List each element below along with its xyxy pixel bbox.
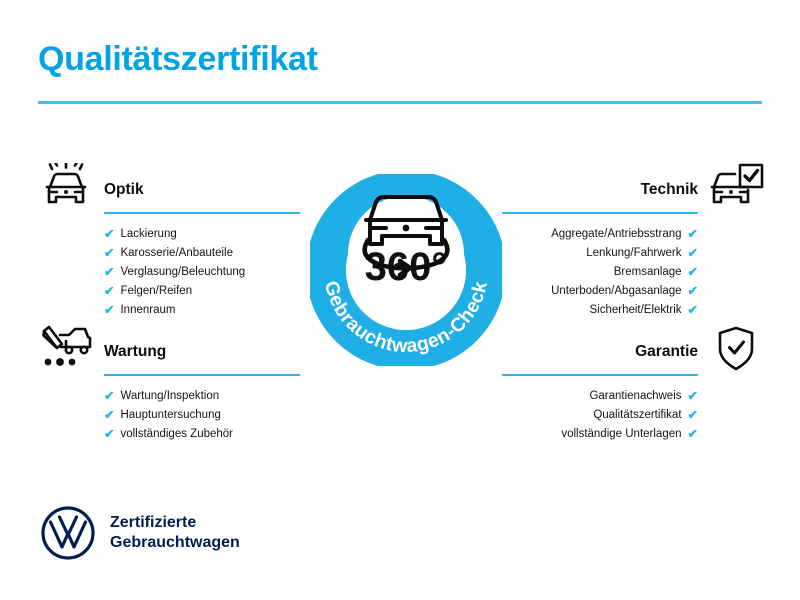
check-icon: ✔	[104, 390, 114, 403]
check-icon: ✔	[688, 428, 698, 441]
list-item-label: Verglasung/Beleuchtung	[120, 263, 245, 282]
check-icon: ✔	[688, 409, 698, 422]
check-list-technik: Aggregate/Antriebsstrang ✔ Lenkung/Fahrw…	[551, 225, 698, 320]
page-title: Qualitätszertifikat	[38, 40, 318, 79]
check-icon: ✔	[104, 409, 114, 422]
check-icon: ✔	[104, 428, 114, 441]
check-icon: ✔	[688, 266, 698, 279]
section-underline	[104, 374, 300, 376]
list-item: ✔ Lackierung	[104, 225, 245, 244]
list-item-label: Lenkung/Fahrwerk	[586, 244, 681, 263]
section-technik: Technik Aggregate/Antriebsstrang ✔ Lenku…	[502, 163, 764, 219]
list-item: Garantienachweis ✔	[561, 387, 698, 406]
check-icon: ✔	[104, 247, 114, 260]
section-title: Technik	[641, 181, 698, 199]
title-divider	[38, 101, 762, 104]
list-item: Bremsanlage ✔	[551, 263, 698, 282]
badge-360-check: Gebrauchtwagen-Check 360°	[296, 158, 516, 382]
list-item: ✔ Karosserie/Anbauteile	[104, 244, 245, 263]
list-item-label: vollständige Unterlagen	[561, 425, 681, 444]
list-item-label: Wartung/Inspektion	[120, 387, 219, 406]
list-item-label: Qualitätszertifikat	[593, 406, 681, 425]
car-pen-service-icon	[38, 325, 94, 373]
footer-line-2: Gebrauchtwagen	[110, 534, 240, 551]
section-title: Optik	[104, 181, 144, 199]
section-header: Optik	[38, 163, 300, 219]
list-item: ✔ Wartung/Inspektion	[104, 387, 233, 406]
list-item: ✔ Hauptuntersuchung	[104, 406, 233, 425]
check-icon: ✔	[104, 285, 114, 298]
list-item-label: Unterboden/Abgasanlage	[551, 282, 681, 301]
section-title: Wartung	[104, 343, 166, 361]
list-item-label: Lackierung	[120, 225, 176, 244]
section-underline	[104, 212, 300, 214]
certificate-page: Qualitätszertifikat Optik ✔ La	[0, 0, 800, 600]
footer-logo-text: Zertifizierte Gebrauchtwagen	[110, 513, 240, 553]
list-item: ✔ Innenraum	[104, 301, 245, 320]
section-underline	[502, 374, 698, 376]
check-icon: ✔	[688, 228, 698, 241]
car-shine-icon	[38, 163, 94, 211]
shield-check-icon	[708, 325, 764, 373]
list-item: ✔ Verglasung/Beleuchtung	[104, 263, 245, 282]
check-icon: ✔	[688, 304, 698, 317]
footer-line-1: Zertifizierte	[110, 514, 196, 531]
check-icon: ✔	[688, 247, 698, 260]
check-list-wartung: ✔ Wartung/Inspektion ✔ Hauptuntersuchung…	[104, 387, 233, 444]
list-item: Lenkung/Fahrwerk ✔	[551, 244, 698, 263]
section-wartung: Wartung ✔ Wartung/Inspektion ✔ Hauptunte…	[38, 325, 300, 381]
check-icon: ✔	[688, 390, 698, 403]
list-item-label: Karosserie/Anbauteile	[120, 244, 233, 263]
section-header: Wartung	[38, 325, 300, 381]
list-item: Qualitätszertifikat ✔	[561, 406, 698, 425]
list-item-label: Sicherheit/Elektrik	[589, 301, 681, 320]
list-item: vollständige Unterlagen ✔	[561, 425, 698, 444]
check-list-garantie: Garantienachweis ✔ Qualitätszertifikat ✔…	[561, 387, 698, 444]
list-item: Sicherheit/Elektrik ✔	[551, 301, 698, 320]
section-header: Technik	[502, 163, 764, 219]
list-item-label: Garantienachweis	[589, 387, 681, 406]
list-item-label: Felgen/Reifen	[120, 282, 192, 301]
list-item: ✔ vollständiges Zubehör	[104, 425, 233, 444]
check-icon: ✔	[688, 285, 698, 298]
car-checkbox-icon	[708, 163, 764, 211]
footer-logo: Zertifizierte Gebrauchtwagen	[40, 505, 240, 561]
check-icon: ✔	[104, 304, 114, 317]
list-item: ✔ Felgen/Reifen	[104, 282, 245, 301]
list-item-label: vollständiges Zubehör	[120, 425, 233, 444]
list-item-label: Innenraum	[120, 301, 175, 320]
check-list-optik: ✔ Lackierung ✔ Karosserie/Anbauteile ✔ V…	[104, 225, 245, 320]
section-garantie: Garantie Garantienachweis ✔ Qualitätszer…	[502, 325, 764, 381]
section-title: Garantie	[635, 343, 698, 361]
section-header: Garantie	[502, 325, 764, 381]
list-item-label: Hauptuntersuchung	[120, 406, 220, 425]
check-icon: ✔	[104, 228, 114, 241]
list-item-label: Bremsanlage	[614, 263, 682, 282]
list-item: Unterboden/Abgasanlage ✔	[551, 282, 698, 301]
section-underline	[502, 212, 698, 214]
check-icon: ✔	[104, 266, 114, 279]
list-item-label: Aggregate/Antriebsstrang	[551, 225, 681, 244]
section-optik: Optik ✔ Lackierung ✔ Karosserie/Anbautei…	[38, 163, 300, 219]
vw-logo-icon	[40, 505, 96, 561]
list-item: Aggregate/Antriebsstrang ✔	[551, 225, 698, 244]
